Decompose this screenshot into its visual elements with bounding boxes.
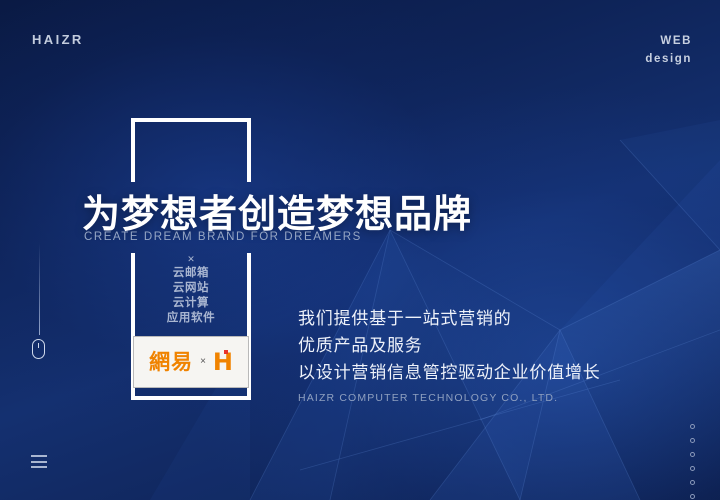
copy-line-3: 以设计营销信息管控驱动企业价值增长: [298, 359, 601, 386]
hamburger-line-1: [31, 455, 47, 457]
hamburger-line-2: [31, 461, 47, 463]
pagination-dot[interactable]: [690, 452, 695, 457]
brand-logo: HAIZR: [32, 32, 84, 47]
partner-logo-card: 網易 × H: [133, 336, 249, 388]
netease-logo-text: 網易: [149, 352, 193, 373]
web-design-tagline: WEB design: [645, 33, 692, 69]
menu-item-cloud-website[interactable]: 云网站: [135, 281, 247, 296]
polygon-background-decoration: [0, 0, 720, 500]
copy-line-2: 优质产品及服务: [298, 332, 601, 359]
service-menu-list: ✕ 云邮箱 云网站 云计算 应用软件: [135, 252, 247, 326]
frame-border-bottom: [131, 396, 251, 400]
frame-border-left-upper: [131, 118, 135, 182]
body-copy-block: 我们提供基于一站式营销的 优质产品及服务 以设计营销信息管控驱动企业价值增长 H…: [298, 305, 601, 404]
menu-item-application-software[interactable]: 应用软件: [135, 311, 247, 326]
pagination-dot[interactable]: [690, 424, 695, 429]
pagination-dot[interactable]: [690, 466, 695, 471]
tagline-line-1: WEB: [645, 33, 692, 51]
hamburger-menu-icon[interactable]: [31, 455, 47, 468]
menu-item-cloud-mail[interactable]: 云邮箱: [135, 266, 247, 281]
pagination-dot[interactable]: [690, 480, 695, 485]
menu-item-cloud-computing[interactable]: 云计算: [135, 296, 247, 311]
copy-line-1: 我们提供基于一站式营销的: [298, 305, 601, 332]
tagline-line-2: design: [645, 51, 692, 69]
mouse-scroll-icon[interactable]: [32, 339, 45, 359]
frame-border-top: [131, 118, 251, 122]
haizr-mark-logo: H: [213, 351, 233, 374]
company-name-en: HAIZR COMPUTER TECHNOLOGY CO., LTD.: [298, 392, 601, 404]
mouse-wheel-icon: [38, 343, 39, 348]
slide-canvas: HAIZR WEB design 为梦想者创造梦想品牌 CREATE DREAM…: [0, 0, 720, 500]
scroll-hint-line: [39, 243, 40, 335]
slide-pagination: [690, 424, 695, 500]
logo-cross-separator-icon: ×: [200, 357, 206, 367]
hamburger-line-3: [31, 466, 47, 468]
menu-marker-icon: ✕: [135, 252, 247, 266]
pagination-dot[interactable]: [690, 494, 695, 499]
hero-subheadline: CREATE DREAM BRAND FOR DREAMERS: [84, 231, 362, 243]
pagination-dot[interactable]: [690, 438, 695, 443]
haizr-mark-dot-icon: [224, 350, 228, 354]
hero-headline: 为梦想者创造梦想品牌: [82, 183, 472, 238]
frame-border-right-upper: [247, 118, 251, 182]
